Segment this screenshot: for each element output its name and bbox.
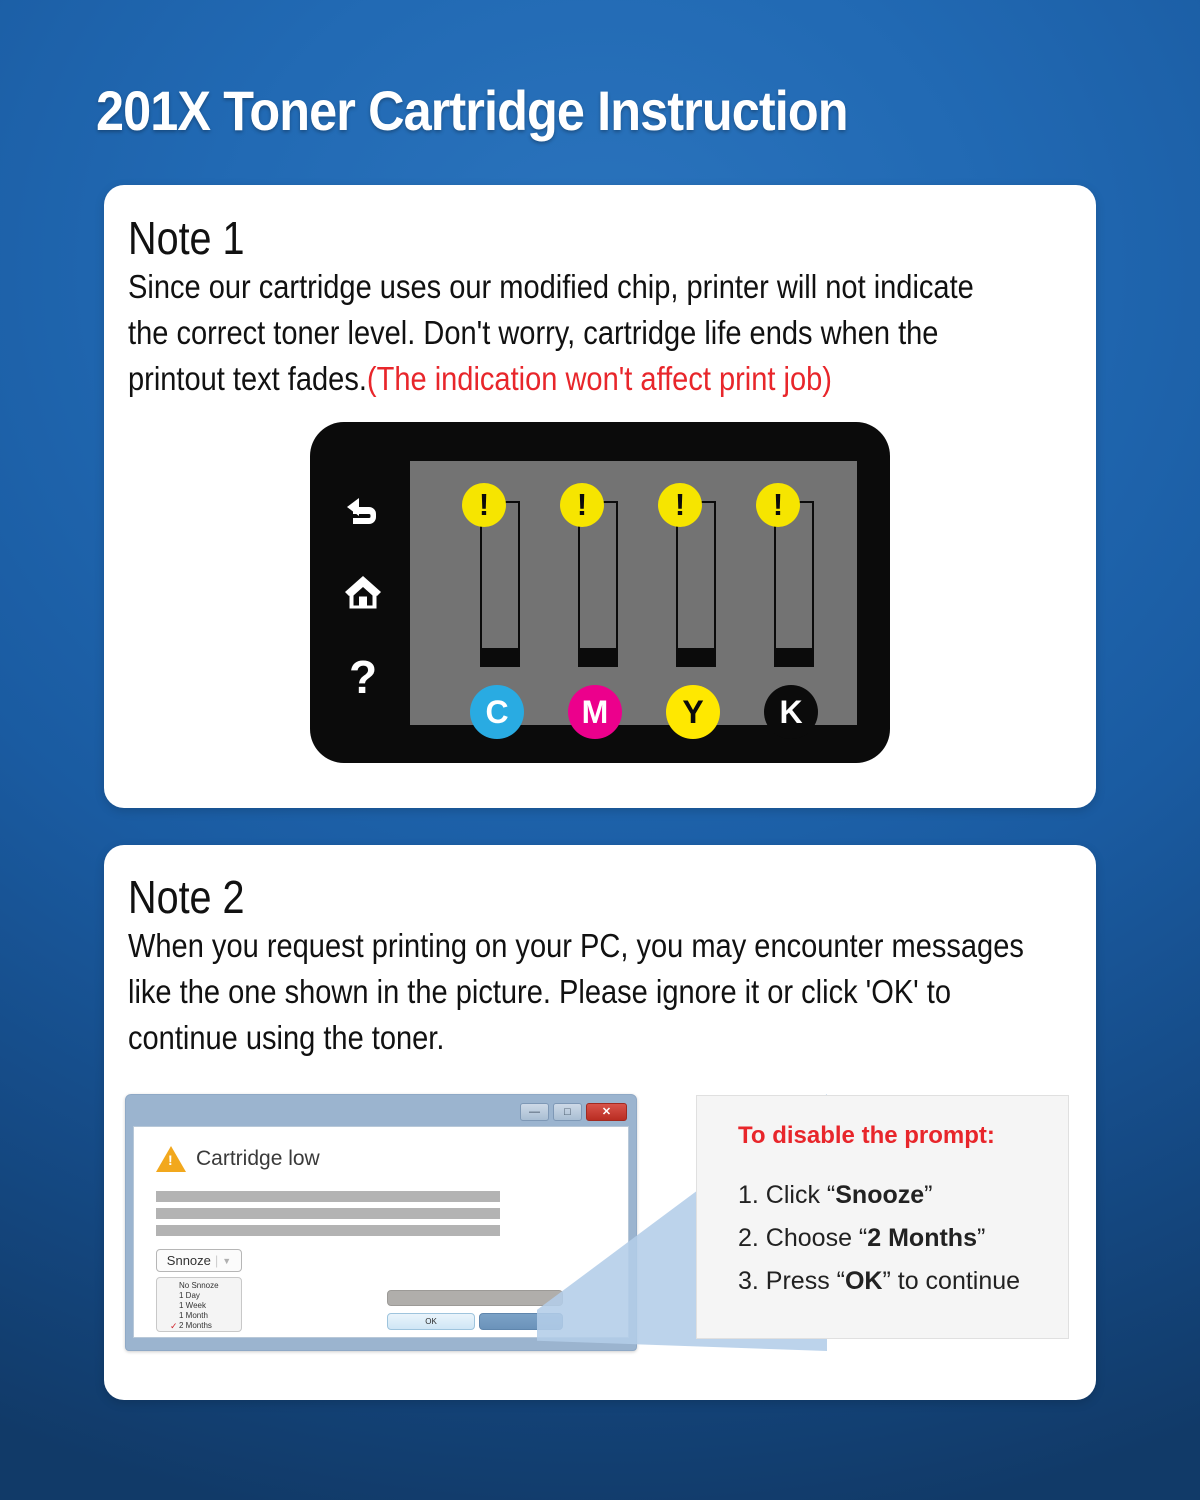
toner-level-fill [482,648,518,665]
secondary-action-bar [387,1290,563,1306]
snooze-option[interactable]: No Snnoze [157,1281,241,1291]
dialog-body: Cartridge low Snnoze | ▼ No Snnoze1 Day1… [133,1126,629,1338]
instruction-step-number: 3. [738,1267,759,1295]
instructions-title: To disable the prompt: [738,1122,995,1150]
snooze-option[interactable]: ✓2 Months [157,1321,241,1331]
instruction-step-number: 1. [738,1181,759,1209]
placeholder-text-bar [156,1225,500,1236]
note-2-body-line-2: like the one shown in the picture. Pleas… [128,969,1024,1015]
instruction-step: 1. Click “Snooze” [738,1174,1020,1217]
dialog-alert-row: Cartridge low [156,1146,320,1172]
toner-color-label-y: Y [666,685,720,739]
instruction-step-text: Choose “ [759,1224,867,1252]
note-2-body-line-1: When you request printing on your PC, yo… [128,923,1024,969]
warning-exclamation-icon: ! [462,483,506,527]
instruction-step-text-tail: ” [924,1181,932,1209]
note-1-body: Since our cartridge uses our modified ch… [128,264,974,402]
ok-button[interactable]: OK [387,1313,475,1330]
instructions-steps: 1. Click “Snooze”2. Choose “2 Months”3. … [738,1174,1020,1303]
instruction-step-text: Press “ [759,1267,845,1295]
snooze-option-label: No Snnoze [179,1281,219,1290]
snooze-dropdown-button[interactable]: Snnoze | ▼ [156,1249,242,1272]
checkmark-icon: ✓ [170,1321,178,1331]
printer-screen: !C!M!Y!K [410,461,857,725]
instruction-step-emphasis: Snooze [835,1181,924,1209]
instruction-step-emphasis: OK [845,1267,883,1295]
titlebar-buttons: — □ ✕ [520,1103,627,1121]
warning-exclamation-icon: ! [560,483,604,527]
snooze-option-label: 1 Day [179,1291,200,1300]
note-2-body-line-3: continue using the toner. [128,1015,1024,1061]
note-1-body-line-2: the correct toner level. Don't worry, ca… [128,310,974,356]
placeholder-text-bar [156,1208,500,1219]
warning-exclamation-icon: ! [756,483,800,527]
instruction-step: 2. Choose “2 Months” [738,1217,1020,1260]
note-1-body-line-3-black: printout text fades. [128,360,367,397]
help-icon[interactable]: ? [336,654,390,700]
toner-level-fill [580,648,616,665]
note-1-body-line-3-red: (The indication won't affect print job) [367,360,832,397]
instruction-step-text-tail: ” [977,1224,985,1252]
minimize-button[interactable]: — [520,1103,549,1121]
chevron-down-icon: ▼ [222,1256,231,1266]
note-1-body-line-3: printout text fades.(The indication won'… [128,356,974,402]
home-icon[interactable] [336,574,390,617]
back-arrow-icon[interactable] [336,494,390,535]
dialog-alert-text: Cartridge low [196,1147,320,1171]
snooze-option[interactable]: 1 Day [157,1291,241,1301]
instruction-step-emphasis: 2 Months [867,1224,977,1252]
instruction-step-text: Click “ [759,1181,835,1209]
snooze-option[interactable]: 1 Week [157,1301,241,1311]
placeholder-text-bar [156,1191,500,1202]
instruction-step: 3. Press “OK” to continue [738,1260,1020,1303]
warning-triangle-icon [156,1146,186,1172]
cancel-button[interactable] [479,1313,563,1330]
toner-color-label-m: M [568,685,622,739]
page-title: 201X Toner Cartridge Instruction [96,78,848,143]
close-button[interactable]: ✕ [586,1103,627,1121]
note-2-body: When you request printing on your PC, yo… [128,923,1024,1061]
note-2-heading: Note 2 [128,870,245,924]
snooze-option-label: 1 Month [179,1311,208,1320]
toner-color-label-k: K [764,685,818,739]
note-2-card: Note 2 When you request printing on your… [104,845,1096,1400]
snooze-dropdown-label: Snnoze [167,1253,211,1268]
note-1-heading: Note 1 [128,211,245,265]
snooze-divider: | [215,1253,218,1268]
snooze-option-label: 1 Week [179,1301,206,1310]
instruction-step-number: 2. [738,1224,759,1252]
toner-level-fill [776,648,812,665]
instructions-panel: To disable the prompt: 1. Click “Snooze”… [696,1095,1069,1339]
toner-level-fill [678,648,714,665]
note-1-body-line-1: Since our cartridge uses our modified ch… [128,264,974,310]
cartridge-low-dialog: — □ ✕ Cartridge low Snnoze | ▼ No Snnoze… [125,1094,637,1351]
maximize-button[interactable]: □ [553,1103,582,1121]
printer-control-panel: ? !C!M!Y!K [310,422,890,763]
note-1-card: Note 1 Since our cartridge uses our modi… [104,185,1096,808]
dialog-titlebar: — □ ✕ [133,1102,629,1126]
instruction-step-text-tail: ” to continue [882,1267,1020,1295]
toner-color-label-c: C [470,685,524,739]
warning-exclamation-icon: ! [658,483,702,527]
snooze-options-list[interactable]: No Snnoze1 Day1 Week1 Month✓2 Months [156,1277,242,1332]
snooze-option-label: 2 Months [179,1321,212,1330]
snooze-option[interactable]: 1 Month [157,1311,241,1321]
